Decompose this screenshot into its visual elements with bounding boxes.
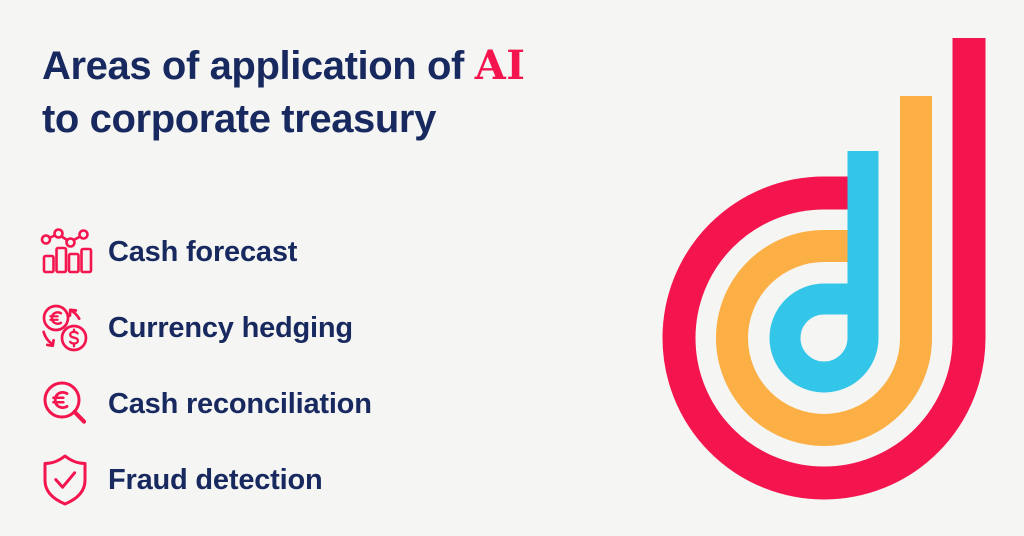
list-item: Fraud detection: [38, 442, 598, 518]
infographic-canvas: Areas of application of AIto corporate t…: [0, 0, 1024, 536]
list-item-label: Cash reconciliation: [108, 390, 372, 419]
list-item: Cash reconciliation: [38, 366, 598, 442]
list-item: Cash forecast: [38, 214, 598, 290]
page-title: Areas of application of AIto corporate t…: [42, 40, 642, 146]
headline-line1-text: Areas of application of: [42, 44, 475, 88]
currency-exchange-euro-dollar-icon: [38, 301, 92, 355]
headline-block: Areas of application of AIto corporate t…: [42, 40, 642, 146]
nested-d-spiral-logo: [624, 18, 1024, 518]
bar-chart-trend-icon: [38, 225, 92, 279]
feature-list: Cash forecast: [38, 214, 598, 518]
headline-line2-text: to corporate treasury: [42, 97, 436, 141]
list-item-label: Fraud detection: [108, 466, 323, 495]
magnifier-euro-icon: [38, 377, 92, 431]
list-item-label: Currency hedging: [108, 314, 353, 343]
shield-check-icon: [38, 453, 92, 507]
list-item: Currency hedging: [38, 290, 598, 366]
headline-accent-ai: AI: [475, 42, 526, 89]
list-item-label: Cash forecast: [108, 238, 297, 267]
